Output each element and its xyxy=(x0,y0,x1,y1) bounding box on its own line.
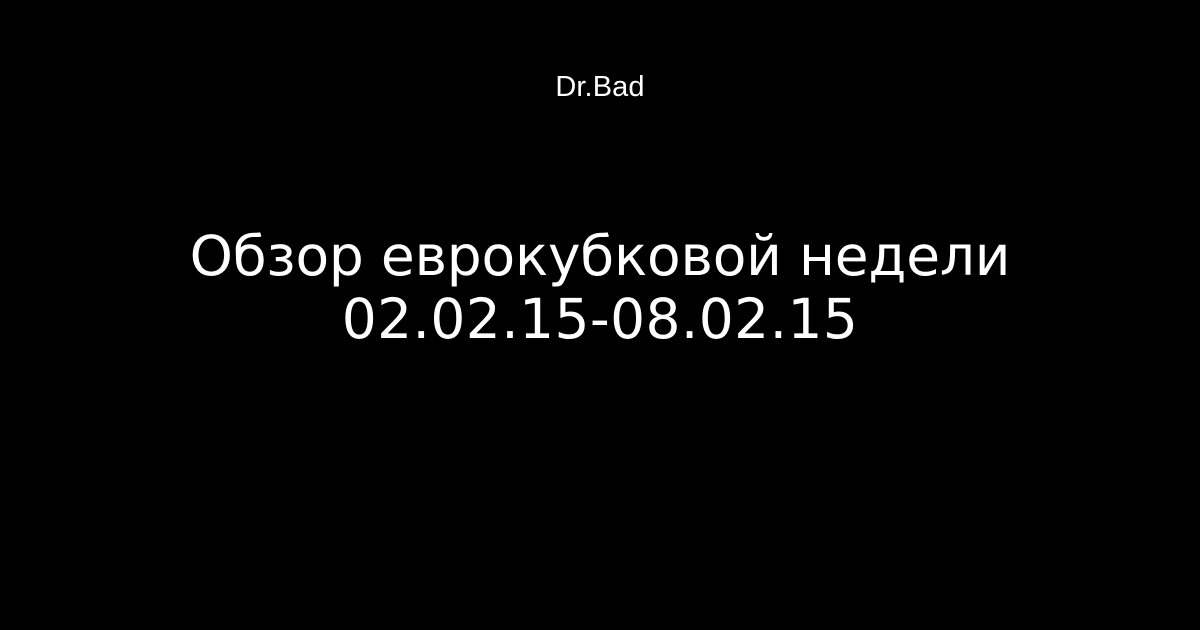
headline-block: Обзор еврокубковой недели 02.02.15-08.02… xyxy=(0,225,1200,351)
author-row: Dr.Bad xyxy=(0,0,1200,118)
article-preview-card: Dr.Bad Обзор еврокубковой недели 02.02.1… xyxy=(0,0,1200,630)
headline-line-date-range: 02.02.15-08.02.15 xyxy=(342,288,859,351)
headline-line-title: Обзор еврокубковой недели xyxy=(190,225,1011,288)
empty-lower-area xyxy=(0,380,1200,630)
author-label: Dr.Bad xyxy=(555,73,644,102)
